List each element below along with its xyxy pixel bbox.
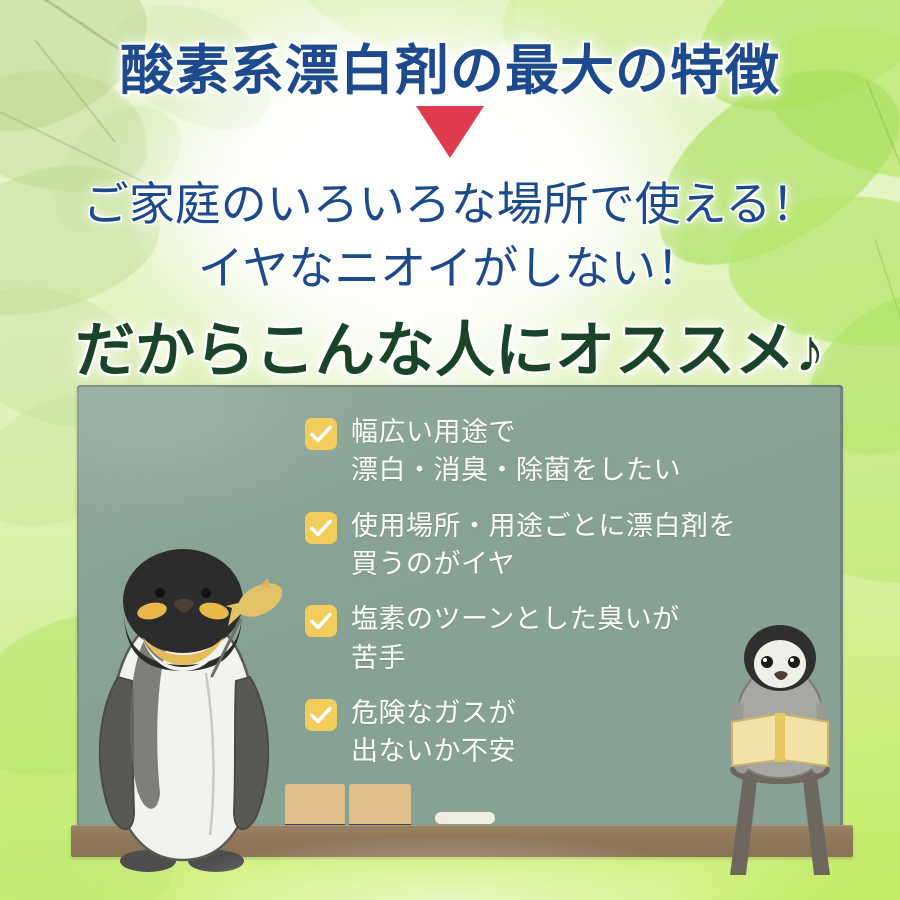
chalk-eraser [285,784,345,826]
list-item-line-2: 買うのがイヤ [351,545,736,583]
student-penguin-illustration [712,620,852,885]
chalk-stick [435,812,495,824]
cta-heading: だからこんな人にオススメ♪ [0,302,900,389]
list-item-line-2: 苦手 [351,639,680,677]
checkmark-icon [305,605,337,637]
list-item-line-1: 危険なガスが [351,698,516,728]
list-item: 使用場所・用途ごとに漂白剤を 買うのがイヤ [305,507,805,584]
down-arrow-icon [416,106,484,158]
fish-pointer-icon [208,562,288,682]
list-item-line-1: 塩素のツーンとした臭いが [351,604,680,634]
list-item-text: 危険なガスが 出ないか不安 [351,694,516,771]
checkmark-icon [305,699,337,731]
subheadline-line-1: ご家庭のいろいろな場所で使える！ [0,168,900,234]
list-item-line-1: 幅広い用途で [351,417,516,447]
chalk-eraser [349,784,411,826]
poster-canvas: 酸素系漂白剤の最大の特徴 ご家庭のいろいろな場所で使える！ イヤなニオイがしない… [0,0,900,900]
list-item-line-2: 出ないか不安 [351,732,516,770]
list-item-text: 塩素のツーンとした臭いが 苦手 [351,600,680,677]
subheadline-line-2: イヤなニオイがしない！ [0,232,900,298]
page-title: 酸素系漂白剤の最大の特徴 [0,26,900,105]
list-item-text: 幅広い用途で 漂白・消臭・除菌をしたい [351,413,681,490]
list-item-line-1: 使用場所・用途ごとに漂白剤を [351,511,736,541]
checkmark-icon [305,512,337,544]
list-item: 幅広い用途で 漂白・消臭・除菌をしたい [305,413,805,490]
checkmark-icon [305,418,337,450]
list-item-text: 使用場所・用途ごとに漂白剤を 買うのがイヤ [351,507,736,584]
list-item-line-2: 漂白・消臭・除菌をしたい [351,451,681,489]
